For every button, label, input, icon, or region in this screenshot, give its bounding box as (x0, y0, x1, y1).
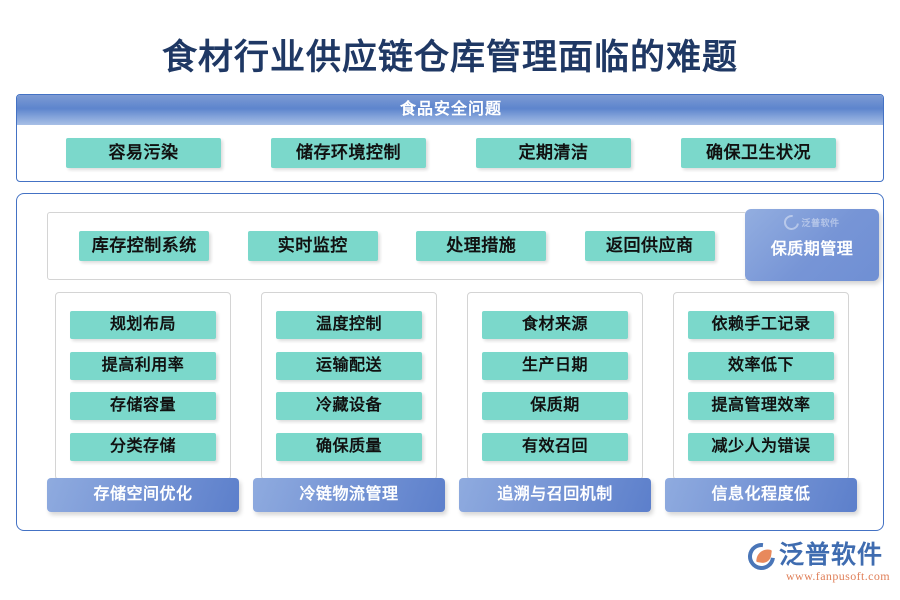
measure-chip[interactable]: 实时监控 (248, 231, 378, 261)
food-safety-section: 食品安全问题 容易污染 储存环境控制 定期清洁 确保卫生状况 (16, 94, 884, 182)
issue-chip[interactable]: 确保质量 (276, 433, 422, 461)
issue-chip[interactable]: 有效召回 (482, 433, 628, 461)
food-safety-chip[interactable]: 定期清洁 (476, 138, 631, 168)
measure-chip[interactable]: 返回供应商 (585, 231, 715, 261)
measure-chip[interactable]: 处理措施 (416, 231, 546, 261)
issue-chip[interactable]: 生产日期 (482, 352, 628, 380)
issue-column-footer[interactable]: 信息化程度低 (665, 478, 857, 512)
issue-chip[interactable]: 效率低下 (688, 352, 834, 380)
issue-columns: 规划布局 提高利用率 存储容量 分类存储 存储空间优化 温度控制 运输配送 冷藏… (47, 292, 857, 514)
issue-chip[interactable]: 食材来源 (482, 311, 628, 339)
food-safety-chip[interactable]: 储存环境控制 (271, 138, 426, 168)
watermark-label: 泛普软件 (801, 216, 839, 229)
issue-column-storage: 规划布局 提高利用率 存储容量 分类存储 存储空间优化 (47, 292, 239, 514)
fanpu-logo-icon (748, 543, 775, 570)
warehouse-issues-section: 库存控制系统 实时监控 处理措施 返回供应商 泛普软件 保质期管理 规划布局 提… (16, 193, 884, 531)
food-safety-chip[interactable]: 容易污染 (66, 138, 221, 168)
issue-column-traceability: 食材来源 生产日期 保质期 有效召回 追溯与召回机制 (459, 292, 651, 514)
infographic-page: 食材行业供应链仓库管理面临的难题 食品安全问题 容易污染 储存环境控制 定期清洁… (0, 0, 900, 600)
issue-chip[interactable]: 提高管理效率 (688, 392, 834, 420)
fanpu-mark-icon (782, 212, 803, 233)
issue-chip[interactable]: 存储容量 (70, 392, 216, 420)
fanpu-logo-icon: 泛普软件 (745, 215, 879, 230)
issue-column-card: 温度控制 运输配送 冷藏设备 确保质量 (261, 292, 437, 480)
issue-column-card: 依赖手工记录 效率低下 提高管理效率 减少人为错误 (673, 292, 849, 480)
brand-name: 泛普软件 (779, 542, 883, 570)
issue-column-coldchain: 温度控制 运输配送 冷藏设备 确保质量 冷链物流管理 (253, 292, 445, 514)
issue-column-card: 食材来源 生产日期 保质期 有效召回 (467, 292, 643, 480)
issue-column-footer[interactable]: 追溯与召回机制 (459, 478, 651, 512)
food-safety-header: 食品安全问题 (17, 95, 884, 125)
shelf-life-label: 保质期管理 (771, 235, 854, 259)
page-title: 食材行业供应链仓库管理面临的难题 (0, 36, 900, 80)
issue-chip[interactable]: 冷藏设备 (276, 392, 422, 420)
issue-chip[interactable]: 依赖手工记录 (688, 311, 834, 339)
issue-column-footer[interactable]: 存储空间优化 (47, 478, 239, 512)
issue-chip[interactable]: 运输配送 (276, 352, 422, 380)
brand-url: www.fanpusoft.com (748, 569, 892, 584)
measure-chip[interactable]: 库存控制系统 (79, 231, 209, 261)
issue-chip[interactable]: 分类存储 (70, 433, 216, 461)
brand-logo: 泛普软件 www.fanpusoft.com (748, 542, 892, 588)
issue-column-card: 规划布局 提高利用率 存储容量 分类存储 (55, 292, 231, 480)
issue-column-footer[interactable]: 冷链物流管理 (253, 478, 445, 512)
issue-chip[interactable]: 温度控制 (276, 311, 422, 339)
issue-chip[interactable]: 提高利用率 (70, 352, 216, 380)
issue-chip[interactable]: 规划布局 (70, 311, 216, 339)
measures-panel: 库存控制系统 实时监控 处理措施 返回供应商 (47, 212, 747, 280)
brand-row: 泛普软件 (748, 542, 892, 570)
issue-column-informatization: 依赖手工记录 效率低下 提高管理效率 减少人为错误 信息化程度低 (665, 292, 857, 514)
food-safety-items: 容易污染 储存环境控制 定期清洁 确保卫生状况 (17, 125, 884, 181)
shelf-life-management-card[interactable]: 泛普软件 保质期管理 (745, 209, 879, 281)
issue-chip[interactable]: 保质期 (482, 392, 628, 420)
issue-chip[interactable]: 减少人为错误 (688, 433, 834, 461)
food-safety-chip[interactable]: 确保卫生状况 (681, 138, 836, 168)
